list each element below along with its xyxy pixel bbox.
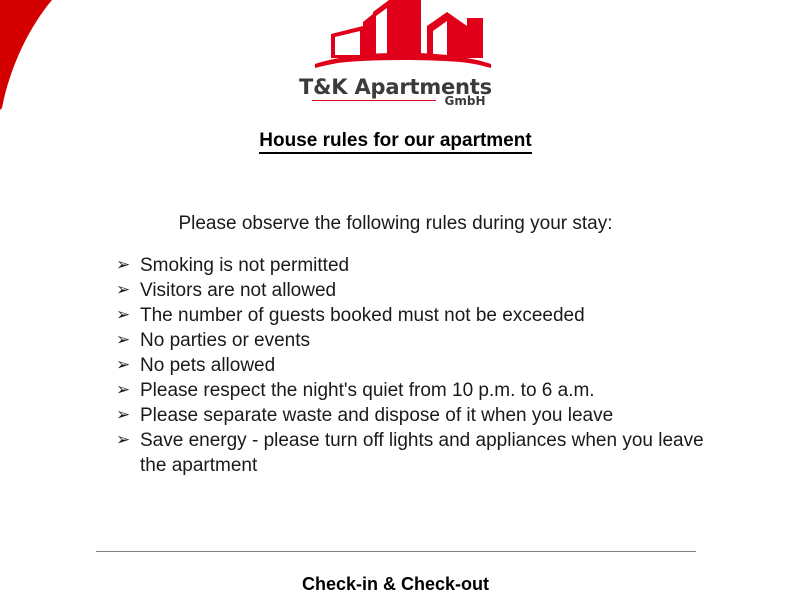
company-logo: T&K Apartments GmbH xyxy=(0,0,791,118)
list-item-label: Smoking is not permitted xyxy=(140,255,349,276)
arrow-bullet-icon: ➢ xyxy=(116,277,130,302)
list-item-label: Save energy - please turn off lights and… xyxy=(140,430,704,476)
list-item-label: Please respect the night's quiet from 10… xyxy=(140,380,595,401)
page-title: House rules for our apartment xyxy=(0,130,791,152)
arrow-bullet-icon: ➢ xyxy=(116,402,130,427)
list-item-label: The number of guests booked must not be … xyxy=(140,305,585,326)
list-item: ➢ Please respect the night's quiet from … xyxy=(113,378,733,403)
logo-company-name-row: T&K Apartments xyxy=(0,76,791,99)
list-item-label: Visitors are not allowed xyxy=(140,280,336,301)
intro-text: Please observe the following rules durin… xyxy=(0,213,791,235)
list-item: ➢ Save energy - please turn off lights a… xyxy=(113,428,733,478)
list-item: ➢ Please separate waste and dispose of i… xyxy=(113,403,733,428)
list-item-label: No parties or events xyxy=(140,330,310,351)
page-title-text: House rules for our apartment xyxy=(259,130,531,154)
arrow-bullet-icon: ➢ xyxy=(116,302,130,327)
logo-red-rule xyxy=(312,100,436,101)
arrow-bullet-icon: ➢ xyxy=(116,252,130,277)
list-item-label: Please separate waste and dispose of it … xyxy=(140,405,613,426)
arrow-bullet-icon: ➢ xyxy=(116,352,130,377)
logo-legal-form: GmbH xyxy=(445,94,486,108)
arrow-bullet-icon: ➢ xyxy=(116,427,130,452)
list-item: ➢ No parties or events xyxy=(113,328,733,353)
list-item: ➢ Visitors are not allowed xyxy=(113,278,733,303)
arrow-bullet-icon: ➢ xyxy=(116,327,130,352)
list-item: ➢ No pets allowed xyxy=(113,353,733,378)
list-item-label: No pets allowed xyxy=(140,355,275,376)
section-divider xyxy=(96,551,696,552)
logo-subtitle-row: GmbH xyxy=(0,97,791,118)
section-heading-checkin-checkout: Check-in & Check-out xyxy=(0,574,791,595)
list-item: ➢ Smoking is not permitted xyxy=(113,253,733,278)
arrow-bullet-icon: ➢ xyxy=(116,377,130,402)
buildings-skyline-icon xyxy=(311,0,496,72)
house-rules-list: ➢ Smoking is not permitted ➢ Visitors ar… xyxy=(113,253,733,478)
list-item: ➢ The number of guests booked must not b… xyxy=(113,303,733,328)
